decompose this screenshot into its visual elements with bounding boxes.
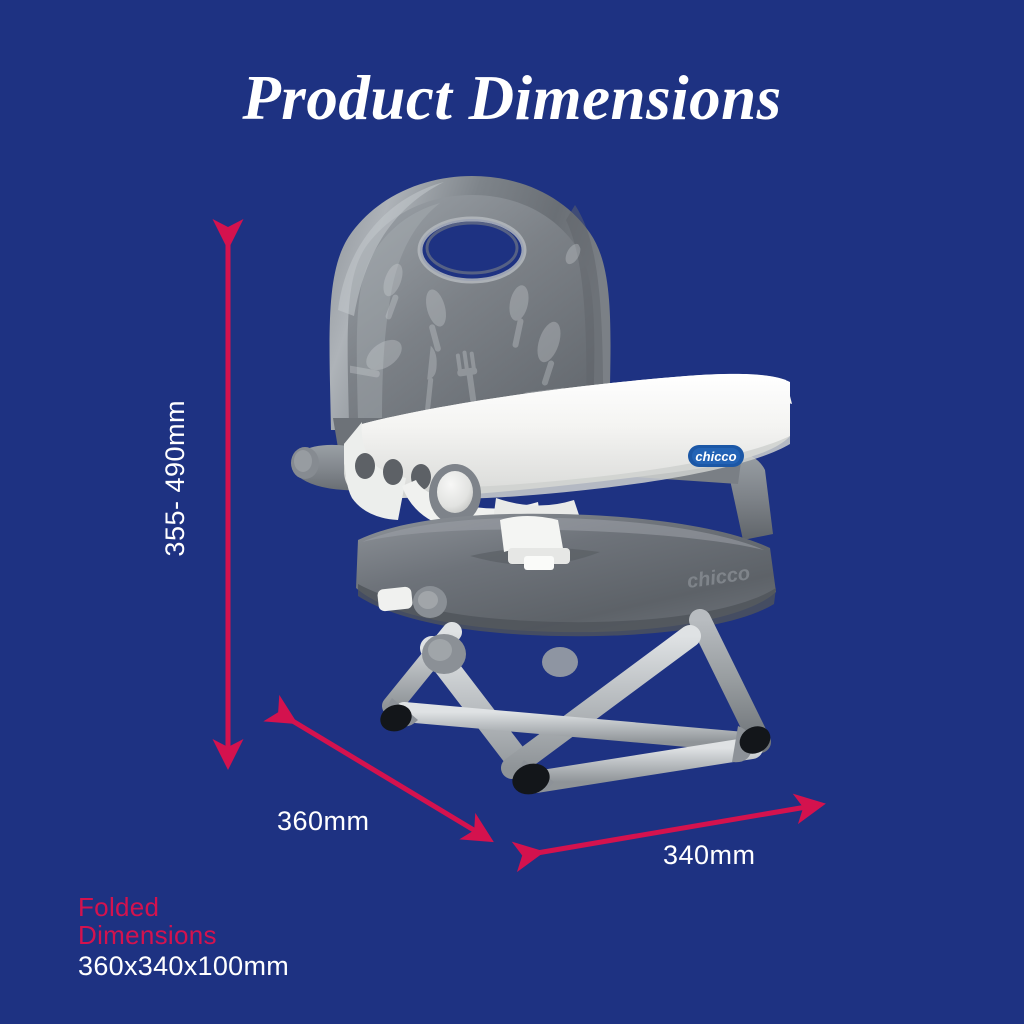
infographic-canvas: chicco chicco [0, 0, 1024, 1024]
safety-harness [500, 516, 570, 570]
feeding-tray: chicco [344, 374, 792, 520]
seat-base: chicco [356, 514, 776, 637]
folded-dimensions-value: 360x340x100mm [78, 952, 289, 981]
width-dimension-label: 340mm [663, 840, 756, 871]
depth-dimension-label: 360mm [277, 806, 370, 837]
armrest-right [590, 444, 773, 540]
foot-rear-left [377, 700, 416, 735]
armrest-left [291, 445, 478, 498]
product-image: chicco chicco [0, 0, 1024, 1024]
cutlery-pattern [346, 241, 584, 414]
chicco-logo-seat: chicco [686, 562, 752, 593]
folded-title-line2: Dimensions [78, 921, 289, 949]
foot-right [735, 721, 775, 759]
tray-adjustment-holes [355, 453, 431, 490]
height-dimension-label: 355- 490mm [160, 400, 191, 557]
dimension-arrows [0, 0, 1024, 1024]
foot-front-left [508, 759, 553, 799]
folding-frame [377, 620, 776, 799]
seat-latch [377, 586, 413, 611]
chicco-logo-tray: chicco [688, 445, 744, 467]
tray-center-clamp [402, 464, 584, 538]
folded-title-line1: Folded [78, 893, 289, 921]
folded-dimensions-block: Folded Dimensions 360x340x100mm [78, 893, 289, 981]
svg-text:chicco: chicco [695, 449, 736, 464]
page-title: Product Dimensions [0, 62, 1024, 135]
seat-backrest [330, 176, 611, 448]
